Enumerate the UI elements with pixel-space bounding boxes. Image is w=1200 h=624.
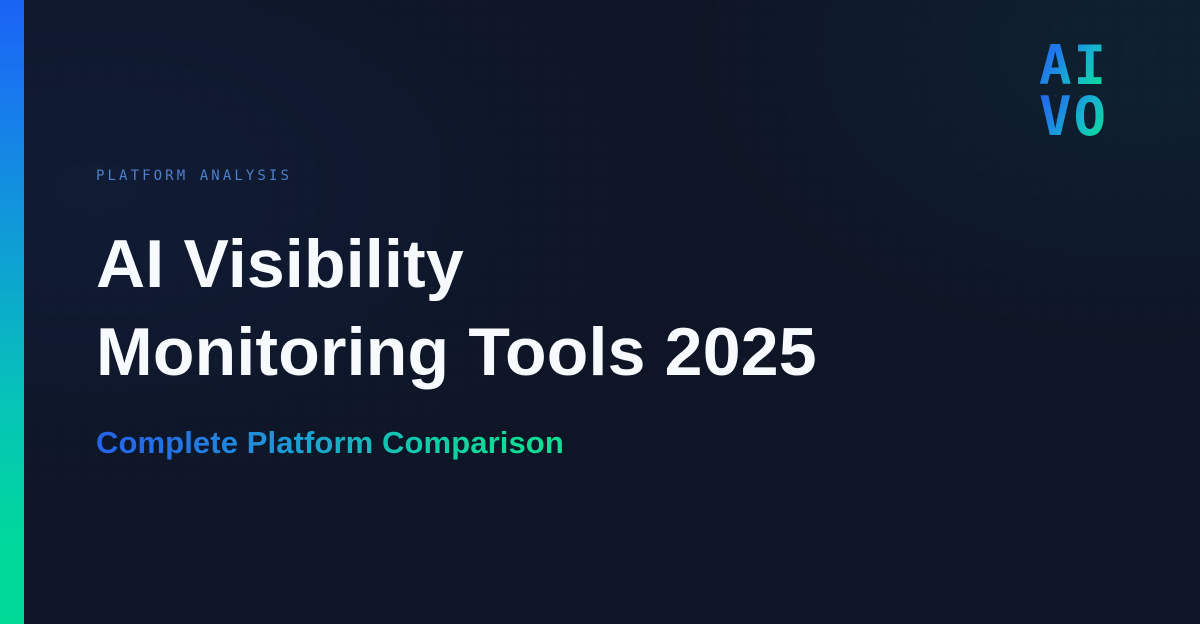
page-subtitle: Complete Platform Comparison [96,425,564,461]
page-title-line-2: Monitoring Tools 2025 [96,308,996,396]
cover-content: PLATFORM ANALYSIS AI Visibility Monitori… [96,168,996,461]
aivo-logo: AI VO [1039,40,1108,144]
page-title-line-1: AI Visibility [96,220,996,308]
eyebrow-label: PLATFORM ANALYSIS [96,168,996,184]
left-gradient-accent-bar [0,0,24,624]
page-title: AI Visibility Monitoring Tools 2025 [96,220,996,397]
cover-canvas: AI VO PLATFORM ANALYSIS AI Visibility Mo… [0,0,1200,624]
logo-line-vo: VO [1039,91,1108,144]
